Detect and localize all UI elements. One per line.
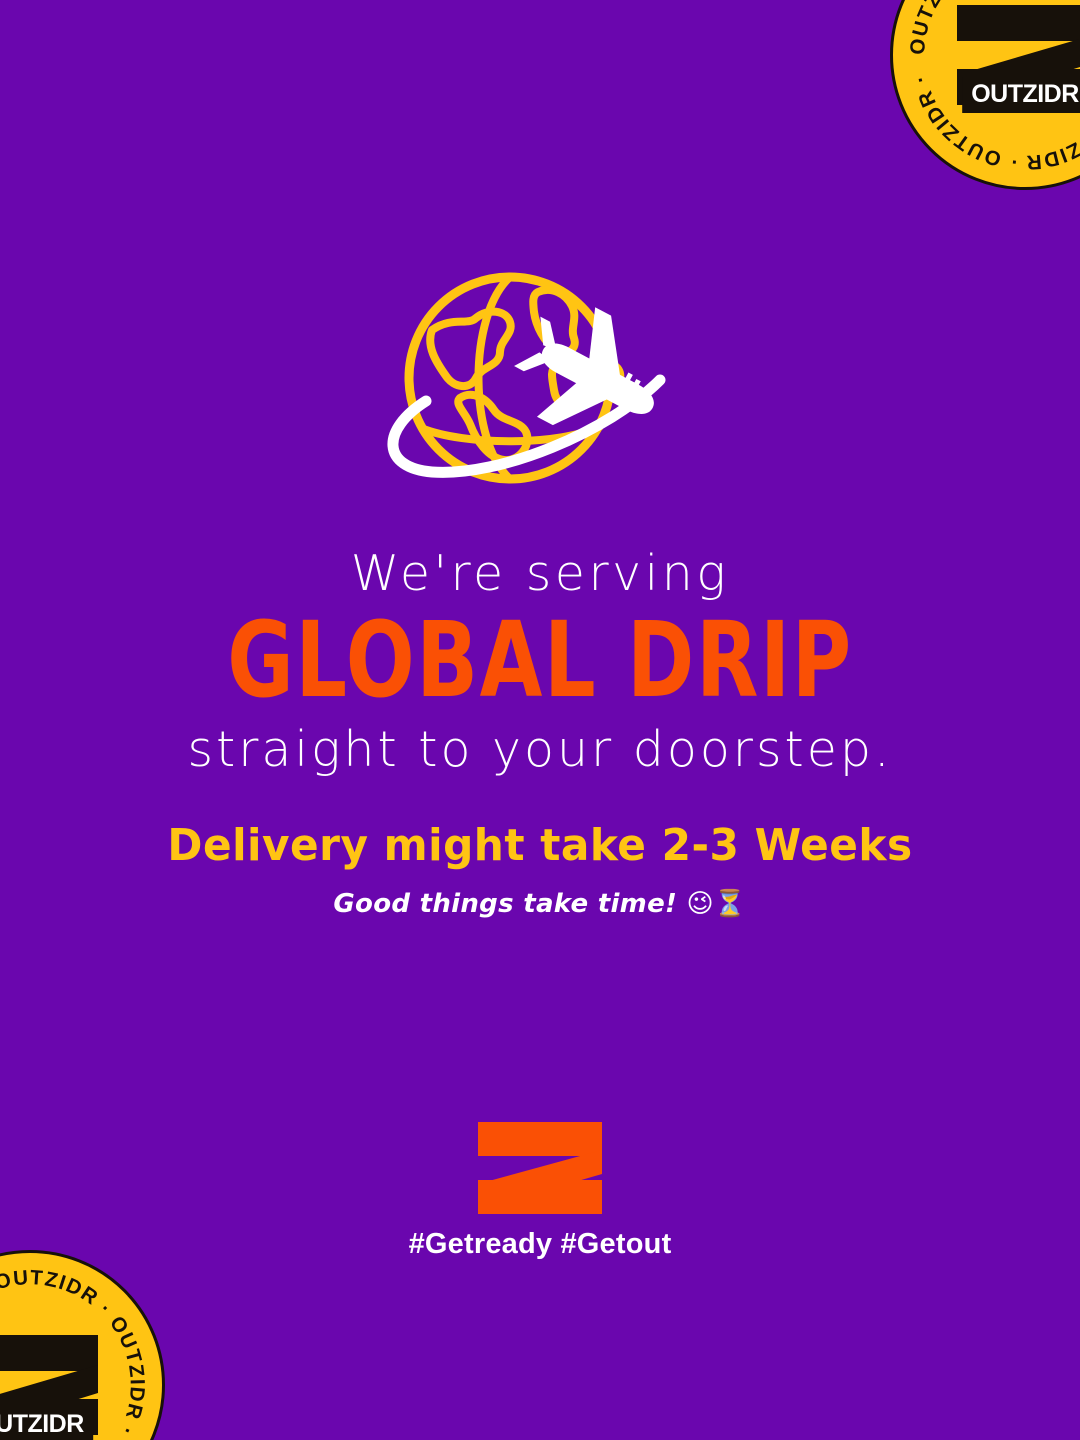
globe-airplane-icon (360, 270, 720, 500)
headline-line-2: GLOBAL DRIP (119, 607, 961, 713)
brand-badge-bottom-left: OUTZIDR · OUTZIDR · OUTZIDR · OUTZIDR · … (0, 1250, 165, 1440)
delivery-block: Delivery might take 2-3 Weeks Good thing… (0, 820, 1080, 919)
hero-icon-wrap (0, 270, 1080, 500)
delivery-estimate: Delivery might take 2-3 Weeks (22, 820, 1059, 871)
badge-core-tr: OUTZIDR (949, 1, 1080, 109)
brand-z-logo-icon (478, 1122, 602, 1214)
badge-wordmark-tr: OUTZIDR (971, 80, 1079, 108)
promo-poster: OUTZIDR · OUTZIDR · OUTZIDR · OUTZIDR · … (0, 0, 1080, 1440)
badge-core-bl: OUTZIDR (0, 1331, 106, 1439)
headline-line-3: straight to your doorstep. (0, 724, 1080, 775)
headline-line-1: We're serving (0, 548, 1080, 599)
wink-hourglass-emoji: 😉⏳ (687, 889, 747, 919)
headline-block: We're serving GLOBAL DRIP straight to yo… (0, 548, 1080, 775)
footer-hashtags: #Getready #Getout (0, 1228, 1080, 1261)
badge-wordmark-bar-bl: OUTZIDR (0, 1407, 93, 1440)
delivery-subnote-text: Good things take time! (333, 889, 677, 919)
badge-wordmark-bl: OUTZIDR (0, 1410, 84, 1438)
brand-badge-top-right: OUTZIDR · OUTZIDR · OUTZIDR · OUTZIDR · … (890, 0, 1080, 190)
delivery-subnote: Good things take time! 😉⏳ (0, 889, 1080, 919)
footer-block: #Getready #Getout (0, 1122, 1080, 1261)
badge-wordmark-bar-tr: OUTZIDR (962, 77, 1080, 113)
